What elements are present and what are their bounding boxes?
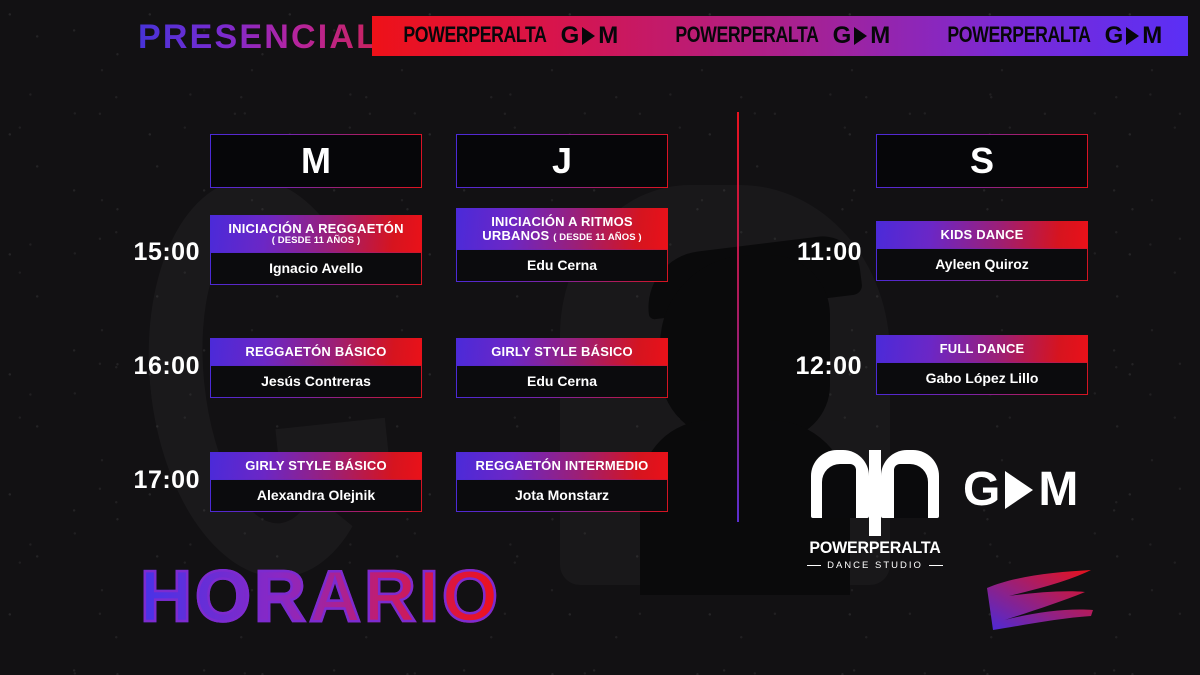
class-age-note: ( DESDE 11 AÑOS ) <box>216 236 416 246</box>
class-card-header: GIRLY STYLE BÁSICO <box>456 338 668 365</box>
class-card[interactable]: KIDS DANCE Ayleen Quiroz <box>876 221 1088 281</box>
class-age-note: ( DESDE 11 AÑOS ) <box>553 232 641 243</box>
class-instructor: Ayleen Quiroz <box>876 248 1088 281</box>
class-card-header: REGGAETÓN BÁSICO <box>210 338 422 365</box>
time-label-1600: 16:00 <box>110 352 200 381</box>
gam-m-letter: M <box>1038 466 1078 514</box>
class-card[interactable]: GIRLY STYLE BÁSICO Edu Cerna <box>456 338 668 398</box>
class-title: GIRLY STYLE BÁSICO <box>462 345 662 359</box>
class-title: FULL DANCE <box>882 342 1082 356</box>
class-title: REGGAETÓN INTERMEDIO <box>462 459 662 473</box>
class-card-header: INICIACIÓN A REGGAETÓN ( DESDE 11 AÑOS ) <box>210 215 422 252</box>
tagline-dash-left <box>807 565 821 566</box>
powerperalta-name: POWERPERALTA <box>800 540 950 559</box>
class-card-header: FULL DANCE <box>876 335 1088 362</box>
zigzag-brush-logo-icon <box>975 560 1105 640</box>
class-card[interactable]: REGGAETÓN BÁSICO Jesús Contreras <box>210 338 422 398</box>
powerperalta-tagline: DANCE STUDIO <box>800 560 950 571</box>
powerperalta-mark-icon <box>811 450 939 518</box>
tagline-text: DANCE STUDIO <box>827 560 923 571</box>
class-instructor: Jesús Contreras <box>210 365 422 398</box>
class-title: KIDS DANCE <box>882 228 1082 242</box>
class-instructor: Jota Monstarz <box>456 479 668 512</box>
pp-right-face-silhouette <box>894 464 928 518</box>
class-title: INICIACIÓN A RITMOS URBANOS ( DESDE 11 A… <box>462 215 662 243</box>
time-label-1100: 11:00 <box>772 238 862 267</box>
class-title: REGGAETÓN BÁSICO <box>216 345 416 359</box>
class-instructor: Gabo López Lillo <box>876 362 1088 395</box>
class-card-header: REGGAETÓN INTERMEDIO <box>456 452 668 479</box>
day-header-thursday: J <box>456 134 668 188</box>
class-card-header: INICIACIÓN A RITMOS URBANOS ( DESDE 11 A… <box>456 208 668 249</box>
time-label-1500: 15:00 <box>110 238 200 267</box>
class-card[interactable]: FULL DANCE Gabo López Lillo <box>876 335 1088 395</box>
powerperalta-logo: POWERPERALTA DANCE STUDIO <box>800 450 950 558</box>
class-card-header: GIRLY STYLE BÁSICO <box>210 452 422 479</box>
pp-left-face-silhouette <box>822 464 856 518</box>
gam-logo: G M <box>963 466 1078 514</box>
time-label-1700: 17:00 <box>110 466 200 495</box>
class-instructor: Edu Cerna <box>456 249 668 282</box>
horario-wordmark: HORARIO <box>140 556 501 638</box>
class-title: INICIACIÓN A REGGAETÓN <box>216 222 416 236</box>
class-instructor: Ignacio Avello <box>210 252 422 285</box>
class-card[interactable]: REGGAETÓN INTERMEDIO Jota Monstarz <box>456 452 668 512</box>
class-card[interactable]: INICIACIÓN A RITMOS URBANOS ( DESDE 11 A… <box>456 208 668 282</box>
class-instructor: Edu Cerna <box>456 365 668 398</box>
class-instructor: Alexandra Olejnik <box>210 479 422 512</box>
gam-g-letter: G <box>963 466 1000 514</box>
pp-center-stem-shape <box>869 450 881 536</box>
tagline-dash-right <box>929 565 943 566</box>
class-card-header: KIDS DANCE <box>876 221 1088 248</box>
class-card[interactable]: INICIACIÓN A REGGAETÓN ( DESDE 11 AÑOS )… <box>210 215 422 285</box>
class-card[interactable]: GIRLY STYLE BÁSICO Alexandra Olejnik <box>210 452 422 512</box>
time-label-1200: 12:00 <box>772 352 862 381</box>
day-header-saturday: S <box>876 134 1088 188</box>
gam-triangle-icon <box>1005 471 1033 509</box>
class-title: GIRLY STYLE BÁSICO <box>216 459 416 473</box>
day-header-monday: M <box>210 134 422 188</box>
